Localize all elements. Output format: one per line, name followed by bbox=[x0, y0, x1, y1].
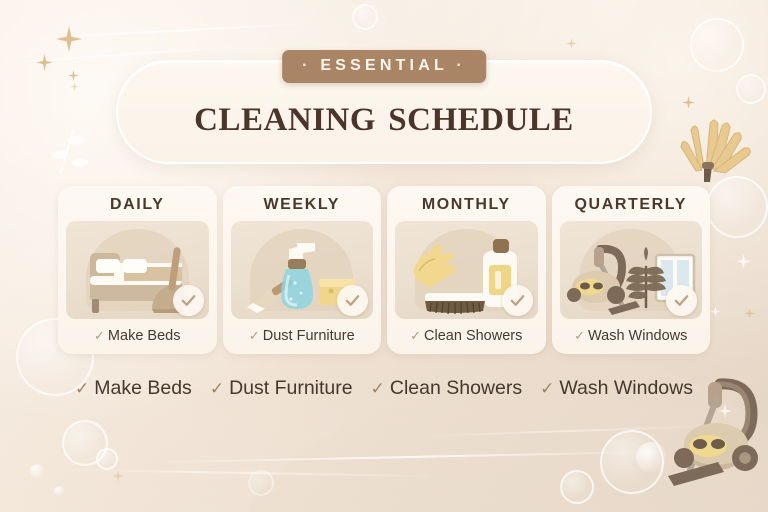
sparkle-icon bbox=[56, 26, 82, 52]
schedule-card-weekly[interactable]: WEEKLY bbox=[223, 186, 382, 354]
card-check-badge bbox=[666, 285, 697, 316]
check-circle-icon bbox=[673, 292, 690, 309]
check-icon: ✓ bbox=[574, 328, 585, 343]
check-icon: ✓ bbox=[249, 328, 260, 343]
bubble-decoration bbox=[62, 420, 108, 466]
summary-item-label: Make Beds bbox=[94, 377, 192, 399]
schedule-card-monthly[interactable]: MONTHLY bbox=[387, 186, 546, 354]
card-task-label: ✓Clean Showers bbox=[395, 328, 538, 344]
bubble-decoration bbox=[706, 176, 768, 238]
bubble-decoration bbox=[690, 18, 744, 72]
sparkle-icon bbox=[566, 38, 577, 49]
card-title: DAILY bbox=[66, 196, 209, 214]
essential-badge: · ESSENTIAL · bbox=[282, 50, 486, 83]
bubble-decoration bbox=[352, 4, 378, 30]
feather-duster-icon bbox=[676, 104, 762, 182]
card-thumbnail-quarterly bbox=[560, 221, 703, 319]
summary-item: ✓Wash Windows bbox=[540, 375, 693, 403]
card-task-text: Clean Showers bbox=[424, 328, 522, 344]
sparkle-icon bbox=[710, 306, 721, 317]
schedule-card-daily[interactable]: DAILY bbox=[58, 186, 217, 354]
card-thumbnail-daily bbox=[66, 221, 209, 319]
background-streak bbox=[150, 451, 670, 464]
sparkle-icon bbox=[112, 470, 124, 482]
card-task-label: ✓Wash Windows bbox=[560, 328, 703, 344]
sparkle-icon bbox=[36, 54, 53, 71]
card-task-text: Dust Furniture bbox=[263, 328, 355, 344]
poster-canvas: · ESSENTIAL · Cleaning Schedule DAILY bbox=[0, 0, 768, 512]
card-thumbnail-weekly bbox=[231, 221, 374, 319]
leaf-sprig-icon bbox=[51, 147, 69, 163]
bubble-decoration bbox=[736, 74, 766, 104]
sparkle-icon bbox=[744, 308, 755, 319]
leaf-sprig-icon bbox=[67, 133, 85, 148]
summary-item: ✓Dust Furniture bbox=[210, 375, 353, 403]
badge-label: ESSENTIAL bbox=[320, 57, 447, 74]
card-check-badge bbox=[173, 285, 204, 316]
task-summary-list: ✓Make Beds✓Dust Furniture✓Clean Showers✓… bbox=[58, 375, 710, 403]
summary-item-label: Dust Furniture bbox=[229, 377, 353, 399]
summary-item-label: Wash Windows bbox=[559, 377, 693, 399]
bubble-decoration bbox=[560, 470, 594, 504]
sparkle-icon bbox=[68, 70, 79, 81]
bubble-decoration bbox=[54, 486, 64, 496]
card-thumbnail-monthly bbox=[395, 221, 538, 319]
bubble-decoration bbox=[248, 470, 274, 496]
sparkle-icon bbox=[736, 254, 751, 269]
bubble-decoration bbox=[96, 448, 118, 470]
card-title: QUARTERLY bbox=[560, 196, 703, 214]
card-task-label: ✓Dust Furniture bbox=[231, 328, 374, 344]
background-streak bbox=[60, 469, 440, 478]
summary-item-label: Clean Showers bbox=[390, 377, 522, 399]
bubble-decoration bbox=[30, 464, 44, 478]
check-icon: ✓ bbox=[210, 379, 224, 398]
check-circle-icon bbox=[344, 292, 361, 309]
leaf-sprig-icon bbox=[71, 155, 89, 170]
check-icon: ✓ bbox=[540, 379, 554, 398]
card-task-text: Make Beds bbox=[108, 328, 181, 344]
check-circle-icon bbox=[180, 292, 197, 309]
check-icon: ✓ bbox=[94, 328, 105, 343]
badge-dot-left: · bbox=[302, 57, 312, 74]
bubble-decoration bbox=[600, 430, 664, 494]
check-icon: ✓ bbox=[75, 379, 89, 398]
schedule-card-quarterly[interactable]: QUARTERLY bbox=[552, 186, 711, 354]
background-streak bbox=[20, 22, 320, 40]
sparkle-icon bbox=[70, 82, 79, 91]
card-task-label: ✓Make Beds bbox=[66, 328, 209, 344]
check-icon: ✓ bbox=[371, 379, 385, 398]
summary-item: ✓Clean Showers bbox=[371, 375, 522, 403]
card-check-badge bbox=[337, 285, 368, 316]
card-title: WEEKLY bbox=[231, 196, 374, 214]
badge-dot-right: · bbox=[456, 57, 466, 74]
summary-item: ✓Make Beds bbox=[75, 375, 192, 403]
schedule-card-row: DAILY bbox=[58, 186, 710, 354]
card-title: MONTHLY bbox=[395, 196, 538, 214]
card-task-text: Wash Windows bbox=[588, 328, 687, 344]
leaf-sprig-icon bbox=[60, 129, 75, 174]
check-icon: ✓ bbox=[410, 328, 421, 343]
card-check-badge bbox=[502, 285, 533, 316]
check-circle-icon bbox=[509, 292, 526, 309]
